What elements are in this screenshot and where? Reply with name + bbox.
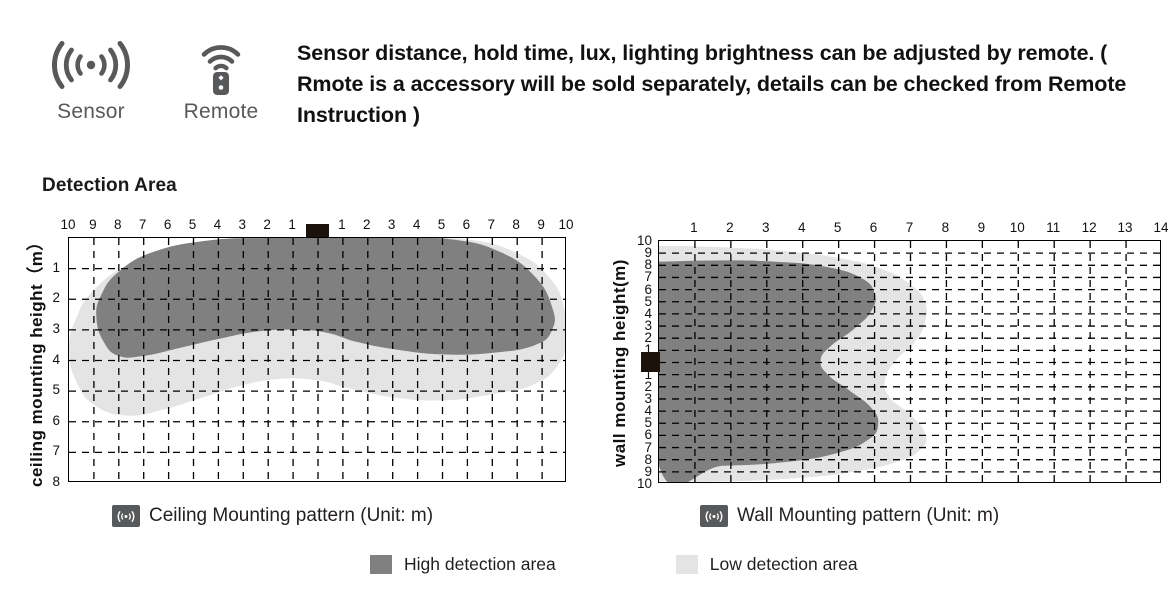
legend-label-high: High detection area bbox=[404, 554, 556, 575]
ceiling-x-tick: 3 bbox=[232, 218, 252, 232]
wall-x-tick: 7 bbox=[900, 221, 920, 235]
wall-x-tick: 11 bbox=[1043, 221, 1063, 235]
ceiling-y-tick: 3 bbox=[44, 322, 60, 336]
wall-x-tick: 6 bbox=[864, 221, 884, 235]
wall-x-tick: 3 bbox=[756, 221, 776, 235]
wall-y-tick-lower: 10 bbox=[628, 477, 652, 491]
ceiling-sensor-marker bbox=[306, 224, 329, 237]
ceiling-x-tick: 10 bbox=[556, 218, 576, 232]
page-title: Detection Area bbox=[42, 175, 177, 197]
wall-x-tick: 4 bbox=[792, 221, 812, 235]
ceiling-x-tick: 6 bbox=[158, 218, 178, 232]
remote-label: Remote bbox=[166, 100, 276, 124]
wall-sensor-marker bbox=[641, 352, 660, 372]
ceiling-y-tick: 7 bbox=[44, 444, 60, 458]
legend-item-high: High detection area bbox=[370, 554, 556, 575]
ceiling-x-tick: 1 bbox=[332, 218, 352, 232]
ceiling-x-tick: 3 bbox=[382, 218, 402, 232]
ceiling-x-tick: 4 bbox=[407, 218, 427, 232]
wall-chart-caption: Wall Mounting pattern (Unit: m) bbox=[700, 505, 999, 527]
wall-x-tick: 9 bbox=[971, 221, 991, 235]
ceiling-y-tick: 1 bbox=[44, 261, 60, 275]
ceiling-chart-y-axis-label: ceiling mounting height（m） bbox=[24, 237, 46, 487]
wall-x-tick: 12 bbox=[1079, 221, 1099, 235]
detection-legend: High detection area Low detection area bbox=[370, 554, 858, 575]
ceiling-y-tick: 4 bbox=[44, 353, 60, 367]
wall-x-tick: 8 bbox=[935, 221, 955, 235]
remote-feature: Remote bbox=[166, 34, 276, 124]
sensor-badge-icon bbox=[700, 505, 728, 527]
ceiling-y-tick: 6 bbox=[44, 414, 60, 428]
ceiling-x-tick: 6 bbox=[456, 218, 476, 232]
wall-chart-plot-area bbox=[658, 240, 1161, 483]
ceiling-y-tick: 2 bbox=[44, 291, 60, 305]
ceiling-detection-regions bbox=[69, 238, 566, 482]
wall-x-tick: 13 bbox=[1115, 221, 1135, 235]
ceiling-x-tick: 4 bbox=[207, 218, 227, 232]
legend-swatch-low bbox=[676, 555, 698, 574]
ceiling-y-tick: 8 bbox=[44, 475, 60, 489]
wall-x-tick: 5 bbox=[828, 221, 848, 235]
wall-caption-text: Wall Mounting pattern (Unit: m) bbox=[737, 505, 999, 527]
ceiling-x-tick: 2 bbox=[357, 218, 377, 232]
wall-x-tick: 10 bbox=[1007, 221, 1027, 235]
remote-control-icon bbox=[173, 34, 269, 96]
ceiling-x-tick: 5 bbox=[183, 218, 203, 232]
feature-description: Sensor distance, hold time, lux, lightin… bbox=[297, 38, 1159, 132]
legend-label-low: Low detection area bbox=[710, 554, 858, 575]
legend-swatch-high bbox=[370, 555, 392, 574]
ceiling-caption-text: Ceiling Mounting pattern (Unit: m) bbox=[149, 505, 433, 527]
legend-item-low: Low detection area bbox=[676, 554, 858, 575]
wall-x-tick: 1 bbox=[684, 221, 704, 235]
ceiling-x-tick: 5 bbox=[432, 218, 452, 232]
wall-x-tick: 14 bbox=[1151, 221, 1168, 235]
ceiling-mounting-chart: ceiling mounting height（m） 1098765432112… bbox=[0, 215, 585, 490]
ceiling-x-tick: 10 bbox=[58, 218, 78, 232]
sensor-label: Sensor bbox=[36, 100, 146, 124]
wall-detection-regions bbox=[659, 241, 1161, 483]
ceiling-x-tick: 1 bbox=[282, 218, 302, 232]
ceiling-y-tick: 5 bbox=[44, 383, 60, 397]
ceiling-x-tick: 7 bbox=[481, 218, 501, 232]
ceiling-x-tick: 8 bbox=[108, 218, 128, 232]
sensor-badge-icon bbox=[112, 505, 140, 527]
ceiling-x-tick: 9 bbox=[531, 218, 551, 232]
ceiling-x-tick: 8 bbox=[506, 218, 526, 232]
ceiling-chart-caption: Ceiling Mounting pattern (Unit: m) bbox=[112, 505, 433, 527]
sensor-feature: Sensor bbox=[36, 34, 146, 124]
wall-mounting-chart: wall mounting height(m) 1234567891011121… bbox=[600, 215, 1168, 493]
sensor-waves-icon bbox=[43, 34, 139, 96]
ceiling-x-tick: 9 bbox=[83, 218, 103, 232]
ceiling-x-tick: 2 bbox=[257, 218, 277, 232]
wall-x-tick: 2 bbox=[720, 221, 740, 235]
detection-area-infographic: Sensor Remote Sensor distance, hold time… bbox=[0, 0, 1168, 594]
ceiling-x-tick: 7 bbox=[133, 218, 153, 232]
ceiling-chart-plot-area bbox=[68, 237, 566, 482]
